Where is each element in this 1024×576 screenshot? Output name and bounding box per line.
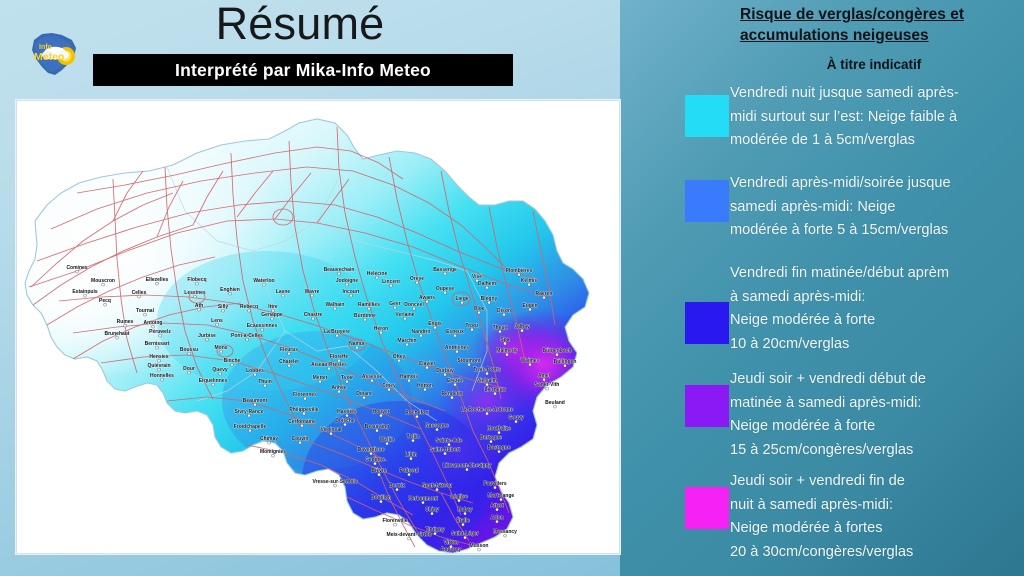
city-label: Ellezelles xyxy=(146,277,169,283)
city-label: Arlon xyxy=(490,515,503,521)
legend-swatch-purple xyxy=(685,385,729,427)
city-label: Libramont-Chevigny xyxy=(443,463,492,469)
city-label: Ittre xyxy=(268,304,278,310)
legend-swatch-magenta xyxy=(685,487,729,529)
city-label: Brunehaut xyxy=(105,331,130,337)
city-label: Momignies xyxy=(260,449,286,455)
city-label: Wellin xyxy=(380,437,395,443)
city-label: Amel xyxy=(538,373,551,379)
slide-canvas: Info Meteo Résumé Interprété par Mika-In… xyxy=(0,0,1024,576)
city-label: Paliseul xyxy=(400,468,420,474)
city-label: Floreffe xyxy=(330,354,349,360)
city-label: Antoing xyxy=(144,320,163,326)
city-label: Walhain xyxy=(326,302,345,308)
city-label: Visé xyxy=(472,274,482,280)
city-label: Vresse-sur-Semois xyxy=(312,479,357,485)
city-label: Silly xyxy=(218,304,229,310)
city-label: Binche xyxy=(224,358,241,364)
city-label: Habay xyxy=(457,507,472,513)
city-label: Châtelet xyxy=(279,359,299,365)
city-label: Quévy xyxy=(212,367,228,373)
city-label: Stoumont xyxy=(457,358,481,364)
legend-entry-line: 15 à 25cm/congères/verglas xyxy=(730,439,1022,463)
city-label: Mons xyxy=(214,345,227,351)
city-label: Lens xyxy=(211,318,223,324)
city-label: Anthisnes xyxy=(445,345,469,351)
city-label: Bièvre xyxy=(371,468,387,474)
city-label: Waimes xyxy=(521,358,540,364)
city-label: Kelmis xyxy=(521,278,538,284)
legend-entry-line: modérée de 1 à 5cm/verglas xyxy=(730,129,1022,153)
city-label: Lasne xyxy=(276,289,291,295)
city-label: Esneux xyxy=(446,329,464,335)
legend-entry-line: Jeudi soir + vendredi début de xyxy=(730,368,1022,392)
city-label: Oupeye xyxy=(436,286,455,292)
city-label: Philippeville xyxy=(289,407,318,413)
interpretation-banner: Interprété par Mika-Info Meteo xyxy=(93,54,513,86)
city-label: Vielsalm xyxy=(477,378,498,384)
city-label: Chastre xyxy=(304,312,323,318)
logo-text-meteo: Meteo xyxy=(34,51,64,63)
city-label: Nandrin xyxy=(412,329,431,335)
legend-entry-line: matinée à samedi après-midi: xyxy=(730,392,1022,416)
city-label: Rebecq xyxy=(240,304,258,310)
city-label: Bastogne xyxy=(488,445,511,451)
city-label: Oreye xyxy=(410,276,424,282)
city-label: Tellin xyxy=(407,434,420,440)
city-label: Froidchapelle xyxy=(234,424,267,430)
city-label: Flobecq xyxy=(187,277,206,283)
city-label: Büllingen xyxy=(554,359,577,365)
city-label: Awans xyxy=(419,295,435,301)
city-label: Clavier xyxy=(419,361,436,367)
city-label: Péruwelz xyxy=(149,329,171,335)
city-label: Daverdisse xyxy=(358,447,385,453)
city-label: Quiévrain xyxy=(147,363,170,369)
city-label: Raeren xyxy=(536,291,553,297)
legend-entry-line: Neige modérée à fortes xyxy=(730,517,1022,541)
legend-entry-line: 10 à 20cm/verglas xyxy=(730,333,1022,357)
city-label: Plombières xyxy=(506,268,533,274)
city-label: Beuland xyxy=(545,400,565,406)
legend-entry-line: 20 à 30cm/congères/verglas xyxy=(730,541,1022,565)
city-label: Gouvy xyxy=(508,415,524,421)
city-label: Rochefort xyxy=(405,410,429,416)
city-label: Saint-Léger xyxy=(451,531,479,537)
city-label: Oloe xyxy=(473,306,484,312)
city-label: Liège xyxy=(455,296,468,302)
city-label: Eugen xyxy=(522,303,537,309)
city-label: La-Roche-en-Ardenne xyxy=(461,407,513,413)
city-label: Dison xyxy=(497,308,511,314)
city-label: Durbuy xyxy=(436,368,454,374)
city-label: Bütgenbach xyxy=(543,348,572,354)
belgium-snow-map-panel[interactable]: CominesMouscronEstainpuisPecqCellesEllez… xyxy=(16,100,620,554)
city-label: Pont-à-Celles xyxy=(231,333,263,339)
city-label: Martelange xyxy=(488,493,515,499)
city-label: Jurbise xyxy=(198,333,216,339)
city-label: Dour xyxy=(183,366,195,372)
city-label: Rendeux xyxy=(441,391,462,397)
city-label: Hotton xyxy=(417,383,433,389)
city-label: Spa xyxy=(500,337,509,343)
city-label: Bernissart xyxy=(145,341,170,347)
city-label: Houffalize xyxy=(487,426,511,432)
legend-title: Risque de verglas/congères et accumulati… xyxy=(740,4,1018,46)
city-label: Dalhem xyxy=(478,281,497,287)
city-label: Florennes xyxy=(293,392,317,398)
city-label: Hélécine xyxy=(367,271,388,277)
city-label: Ohey xyxy=(393,354,406,360)
city-label: Hamois xyxy=(400,374,418,380)
city-label: Viroinval xyxy=(320,427,342,433)
city-label: Bûrdinne xyxy=(354,313,376,319)
city-label: Geer xyxy=(389,301,400,307)
city-label: Héron xyxy=(374,326,388,332)
city-label: Libin xyxy=(405,452,417,458)
legend-entry-line: modérée à forte 5 à 15cm/verglas xyxy=(730,219,1022,243)
legend-entry-text: Vendredi nuit jusque samedi après-midi s… xyxy=(730,82,1022,153)
legend-entry-text: Jeudi soir + vendredi fin denuit à samed… xyxy=(730,470,1022,564)
city-label: Rumes xyxy=(117,319,134,325)
city-label: Cerfontaine xyxy=(288,419,316,425)
legend-title-line2: accumulations neigeuses xyxy=(740,25,1018,46)
city-label: Gedinne xyxy=(365,457,385,463)
legend-entry-line: Neige modérée à forte xyxy=(730,309,1022,333)
city-label: Jalhay xyxy=(514,324,530,330)
legend-entry-line: Vendredi nuit jusque samedi après- xyxy=(730,82,1022,106)
city-label: Bertrix xyxy=(389,483,405,489)
city-label: Herbeumont xyxy=(408,496,438,502)
city-label: Honnelles xyxy=(150,373,174,379)
city-label: Anhée xyxy=(331,385,347,391)
city-label: Sankt-Vith xyxy=(535,382,560,388)
legend-entry-text: Jeudi soir + vendredi début dematinée à … xyxy=(730,368,1022,462)
legend-entry-line: samedi après-midi: Neige xyxy=(730,196,1022,220)
legend-entry-line: nuit à samedi après-midi: xyxy=(730,494,1022,518)
legend-swatch-deep-blue xyxy=(685,302,729,344)
city-label: Malmedy xyxy=(496,348,518,354)
city-label: Waterloo xyxy=(253,278,274,284)
city-marker: Rouvroy xyxy=(441,547,462,553)
city-label: Mouscron xyxy=(91,278,115,284)
legend-swatch-cyan xyxy=(685,95,729,137)
legend-panel: Risque de verglas/congères et accumulati… xyxy=(620,0,1024,576)
city-label: Trooz xyxy=(465,323,479,329)
city-label: Erezée xyxy=(447,378,463,384)
city-label: Lierneux xyxy=(485,387,506,393)
city-label: Pecq xyxy=(99,298,111,304)
legend-entry-text: Vendredi après-midi/soirée jusquesamedi … xyxy=(730,172,1022,243)
city-label: Beaumont xyxy=(243,398,268,404)
city-label: Genappe xyxy=(261,312,283,318)
city-label: Ciney xyxy=(382,383,396,389)
city-label: Thuin xyxy=(258,379,272,385)
city-label: Nassogne xyxy=(425,423,449,429)
legend-entry-line: à samedi après-midi: xyxy=(730,286,1022,310)
city-label: Fauvillers xyxy=(483,481,507,487)
city-label: Léglise xyxy=(450,494,467,500)
city-label: Rouvroy xyxy=(441,547,462,553)
page-title: Résumé xyxy=(0,0,600,52)
city-label: Boussu xyxy=(180,347,198,353)
city-label: Assesse xyxy=(362,374,383,380)
city-label: Aiseau-Presles xyxy=(311,362,347,368)
city-label: Tvoir xyxy=(341,375,353,381)
city-label: Incourt xyxy=(343,289,360,295)
legend-entry-line: Neige modérée à forte xyxy=(730,415,1022,439)
city-label: Chiny xyxy=(425,507,439,513)
city-label: Trois-Ponts xyxy=(473,367,501,373)
city-label: Estainpuis xyxy=(72,289,98,295)
city-label: Ramillies xyxy=(358,302,380,308)
legend-entry-line: Vendredi après-midi/soirée jusque xyxy=(730,172,1022,196)
city-label: Hastière xyxy=(337,409,357,415)
city-label: Couvin xyxy=(292,436,309,442)
city-label: Celles xyxy=(132,290,147,296)
city-label: Virton xyxy=(444,540,458,546)
legend-entry-text: Vendredi fin matinée/début aprèmà samedi… xyxy=(730,262,1022,356)
city-label: Bertogne xyxy=(480,435,502,441)
city-label: Lessines xyxy=(184,290,206,296)
city-label: Mettet xyxy=(313,375,328,381)
city-label: Wavre xyxy=(305,289,320,295)
city-label: Chimay xyxy=(260,436,278,442)
city-label: Verlaine xyxy=(395,312,414,318)
city-label: Beauvechain xyxy=(324,267,355,273)
city-label: Houyet xyxy=(373,409,390,415)
legend-swatch-blue xyxy=(685,180,729,222)
city-label: Doische xyxy=(335,418,355,424)
city-label: Enghien xyxy=(220,287,240,293)
city-label: Bassenge xyxy=(433,267,457,273)
city-label: Saint-Hubert xyxy=(430,447,460,453)
city-label: Ath xyxy=(195,303,203,309)
city-label: Sivry-Rance xyxy=(235,409,264,415)
city-label: Lincent xyxy=(382,279,400,285)
city-label: La Bruyère xyxy=(324,329,350,335)
city-label: Fleurus xyxy=(280,347,298,353)
city-label: Florenville xyxy=(382,518,407,524)
city-label: Musson xyxy=(470,543,489,549)
city-label: Donceel xyxy=(404,302,424,308)
city-label: Comines xyxy=(66,265,87,271)
city-label: Meix-devant-Virton xyxy=(387,532,432,538)
city-label: Jodoigne xyxy=(336,278,358,284)
city-label: Messancy xyxy=(493,529,517,535)
city-label: Beauraing xyxy=(365,424,389,430)
city-label: Namur xyxy=(349,341,365,347)
interpretation-banner-label: Interprété par Mika-Info Meteo xyxy=(175,60,431,81)
legend-entry-line: Vendredi fin matinée/début aprèm xyxy=(730,262,1022,286)
belgium-snow-map: CominesMouscronEstainpuisPecqCellesEllez… xyxy=(17,101,619,553)
city-label: Ecaussinnes xyxy=(247,323,278,329)
city-label: Dinant xyxy=(356,391,372,397)
city-label: Hensies xyxy=(149,354,168,360)
city-label: Erquelinnes xyxy=(199,378,228,384)
city-label: Blégny xyxy=(481,296,498,302)
legend-entry-line: midi surtout sur l’est: Neige faible à xyxy=(730,106,1022,130)
city-label: Neufchâteau xyxy=(422,483,452,489)
city-label: Sainte-Ode xyxy=(436,438,463,444)
city-label: Theux xyxy=(493,325,508,331)
city-label: Engis xyxy=(428,321,442,327)
city-label: Lobbes xyxy=(246,368,264,374)
city-label: Tournal xyxy=(136,308,155,314)
city-label: Attert xyxy=(490,503,504,509)
legend-subtitle: À titre indicatif xyxy=(740,57,1008,72)
legend-title-line1: Risque de verglas/congères et xyxy=(740,4,1018,25)
city-label: Bouillon xyxy=(371,495,391,501)
legend-entry-line: Jeudi soir + vendredi fin de xyxy=(730,470,1022,494)
city-label: Marchin xyxy=(397,338,416,344)
city-label: Étalle xyxy=(456,516,470,524)
